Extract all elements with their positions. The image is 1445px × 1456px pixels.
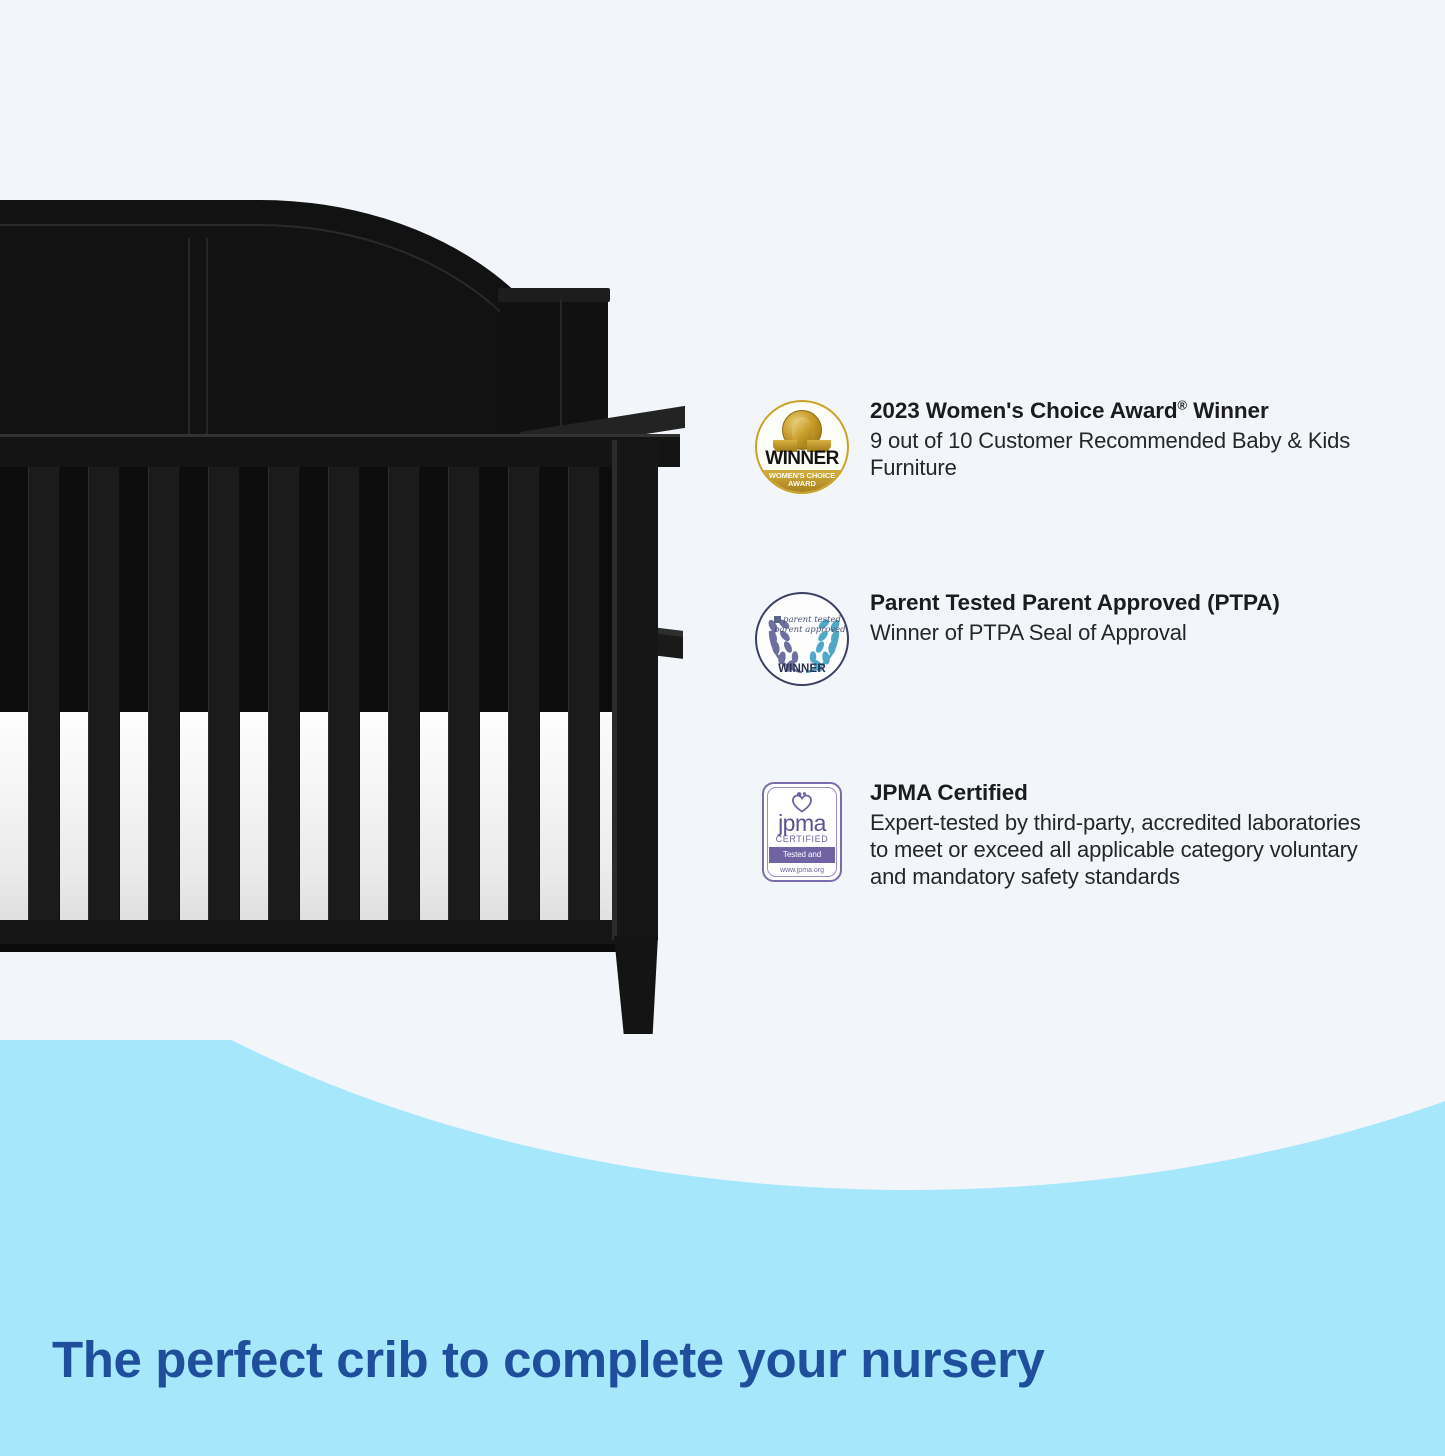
award-title: 2023 Women's Choice Award® Winner xyxy=(870,396,1370,426)
winner-label: WINNER xyxy=(757,448,847,470)
award-text-block: 2023 Women's Choice Award® Winner 9 out … xyxy=(852,396,1370,482)
curved-white-divider xyxy=(0,1040,1445,1190)
product-feature-image: WINNER WOMEN'S CHOICE AWARD 2023 Women's… xyxy=(0,0,1445,1456)
ptpa-square-icon xyxy=(774,616,781,623)
award-description: 9 out of 10 Customer Recommended Baby & … xyxy=(870,428,1370,481)
ptpa-award-icon: parent tested parent approved WINNER xyxy=(755,592,849,686)
jpma-certified-label: CERTIFIED xyxy=(764,834,840,844)
award-item-jpma: jpma CERTIFIED Tested and Trusted www.jp… xyxy=(752,778,1392,890)
award-item-womens-choice: WINNER WOMEN'S CHOICE AWARD 2023 Women's… xyxy=(752,396,1392,494)
badge-slot: parent tested parent approved WINNER xyxy=(752,588,852,686)
crib-mattress xyxy=(0,712,625,924)
crib-front-top-rail xyxy=(0,437,680,467)
badge-slot: jpma CERTIFIED Tested and Trusted www.jp… xyxy=(752,778,852,882)
award-title-suffix: Winner xyxy=(1187,398,1269,423)
crib-front-leg xyxy=(614,936,658,1034)
headboard-post-cap xyxy=(498,288,610,302)
award-item-ptpa: parent tested parent approved WINNER Par… xyxy=(752,588,1392,686)
footer-headline: The perfect crib to complete your nurser… xyxy=(52,1330,1045,1389)
ptpa-wordmark: parent tested parent approved xyxy=(774,616,830,636)
crib-corner-post-highlight xyxy=(612,440,617,940)
jpma-wordmark: jpma xyxy=(764,812,840,835)
badge-slot: WINNER WOMEN'S CHOICE AWARD xyxy=(752,396,852,494)
winner-label: WINNER xyxy=(757,663,847,675)
jpma-url-label: www.jpma.org xyxy=(764,867,840,874)
crib-front-corner-post xyxy=(612,440,658,940)
womens-choice-award-icon: WINNER WOMEN'S CHOICE AWARD xyxy=(755,400,849,494)
award-text-block: JPMA Certified Expert-tested by third-pa… xyxy=(852,778,1370,890)
registered-trademark-icon: ® xyxy=(1178,398,1187,413)
award-title: Parent Tested Parent Approved (PTPA) xyxy=(870,588,1280,618)
crib-base-rail-shadow xyxy=(0,944,650,952)
award-title: JPMA Certified xyxy=(870,778,1370,808)
jpma-tested-trusted-banner: Tested and Trusted xyxy=(769,847,835,863)
award-text-block: Parent Tested Parent Approved (PTPA) Win… xyxy=(852,588,1280,647)
award-banner: WOMEN'S CHOICE AWARD xyxy=(761,470,843,492)
ptpa-wordmark-line2: parent approved xyxy=(774,626,830,636)
bottom-blue-band xyxy=(0,1040,1445,1456)
jpma-certified-icon: jpma CERTIFIED Tested and Trusted www.jp… xyxy=(762,782,842,882)
award-description: Winner of PTPA Seal of Approval xyxy=(870,620,1280,647)
crib-product-photo xyxy=(0,0,700,1040)
award-banner-line2: AWARD xyxy=(761,480,843,488)
award-title-main: 2023 Women's Choice Award xyxy=(870,398,1178,423)
award-description: Expert-tested by third-party, accredited… xyxy=(870,810,1370,890)
certification-list: WINNER WOMEN'S CHOICE AWARD 2023 Women's… xyxy=(752,396,1392,890)
